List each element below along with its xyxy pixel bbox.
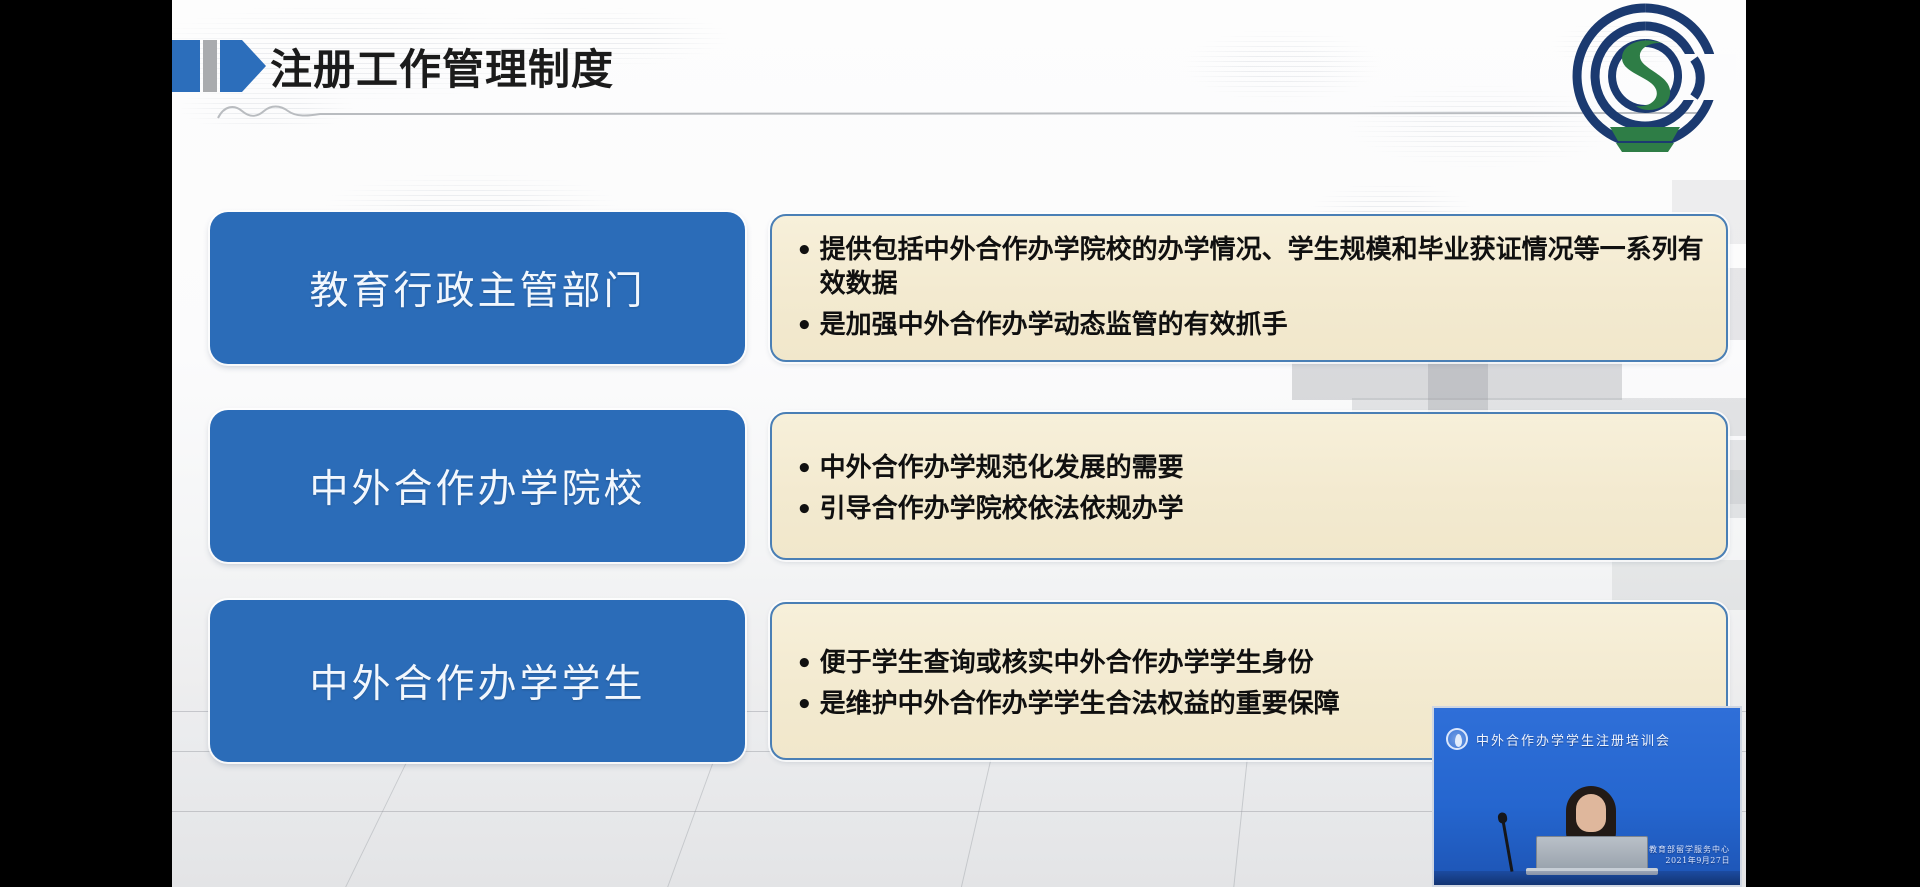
bullet-dot-icon: • bbox=[796, 647, 813, 681]
bullet-item: • 提供包括中外合作办学院校的办学情况、学生规模和毕业获证情况等一系列有效数据 bbox=[796, 233, 1704, 302]
bullet-dot-icon: • bbox=[796, 234, 813, 268]
pip-logo-icon bbox=[1446, 728, 1468, 750]
detail-panel-education-authority: • 提供包括中外合作办学院校的办学情况、学生规模和毕业获证情况等一系列有效数据 … bbox=[770, 214, 1728, 362]
bullet-dot-icon: • bbox=[796, 493, 813, 527]
page-title: 注册工作管理制度 bbox=[270, 36, 614, 97]
bullet-item: • 引导合作办学院校依法依规办学 bbox=[796, 492, 1704, 527]
podium bbox=[1434, 871, 1740, 885]
presentation-slide: 注册工作管理制度 教育行政主管 bbox=[172, 0, 1746, 887]
content-row-2: 中外合作办学院校 • 中外合作办学规范化发展的需要 • 引导合作办学院校依法依规… bbox=[172, 410, 1746, 562]
detail-panel-partner-institutions: • 中外合作办学规范化发展的需要 • 引导合作办学院校依法依规办学 bbox=[770, 412, 1728, 560]
bullet-text: 中外合作办学规范化发展的需要 bbox=[820, 451, 1704, 485]
pip-date: 2021年9月27日 bbox=[1649, 856, 1730, 867]
speaker-video-pip[interactable]: 中外合作办学学生注册培训会 教育部留学服务中心 2021年9月27日 bbox=[1432, 706, 1742, 887]
pip-organization: 教育部留学服务中心 bbox=[1649, 845, 1730, 856]
bullet-dot-icon: • bbox=[796, 688, 813, 722]
category-label: 中外合作办学院校 bbox=[309, 458, 645, 514]
title-underline-squiggle bbox=[216, 102, 1706, 120]
bullet-item: • 是加强中外合作办学动态监管的有效抓手 bbox=[796, 308, 1704, 343]
pip-credit-block: 教育部留学服务中心 2021年9月27日 bbox=[1649, 845, 1730, 867]
bullet-text: 便于学生查询或核实中外合作办学学生身份 bbox=[820, 646, 1704, 680]
content-row-1: 教育行政主管部门 • 提供包括中外合作办学院校的办学情况、学生规模和毕业获证情况… bbox=[172, 212, 1746, 364]
category-box-education-authority[interactable]: 教育行政主管部门 bbox=[210, 212, 745, 364]
title-arrow-icon bbox=[172, 40, 262, 92]
category-label: 教育行政主管部门 bbox=[309, 260, 645, 316]
pip-banner-text: 中外合作办学学生注册培训会 bbox=[1476, 730, 1671, 749]
cscse-logo-icon bbox=[1554, 0, 1736, 164]
category-label: 中外合作办学学生 bbox=[309, 653, 645, 709]
bullet-item: • 中外合作办学规范化发展的需要 bbox=[796, 451, 1704, 486]
category-box-students[interactable]: 中外合作办学学生 bbox=[210, 600, 745, 762]
bullet-dot-icon: • bbox=[796, 452, 813, 486]
bullet-text: 引导合作办学院校依法依规办学 bbox=[820, 492, 1704, 526]
bullet-item: • 便于学生查询或核实中外合作办学学生身份 bbox=[796, 646, 1704, 681]
bullet-text: 是加强中外合作办学动态监管的有效抓手 bbox=[820, 308, 1704, 342]
video-player-stage: 注册工作管理制度 教育行政主管 bbox=[0, 0, 1920, 887]
laptop-icon bbox=[1536, 836, 1648, 870]
bullet-text: 提供包括中外合作办学院校的办学情况、学生规模和毕业获证情况等一系列有效数据 bbox=[820, 233, 1704, 302]
category-box-partner-institutions[interactable]: 中外合作办学院校 bbox=[210, 410, 745, 562]
pip-event-banner: 中外合作办学学生注册培训会 bbox=[1446, 726, 1732, 752]
bullet-dot-icon: • bbox=[796, 309, 813, 343]
